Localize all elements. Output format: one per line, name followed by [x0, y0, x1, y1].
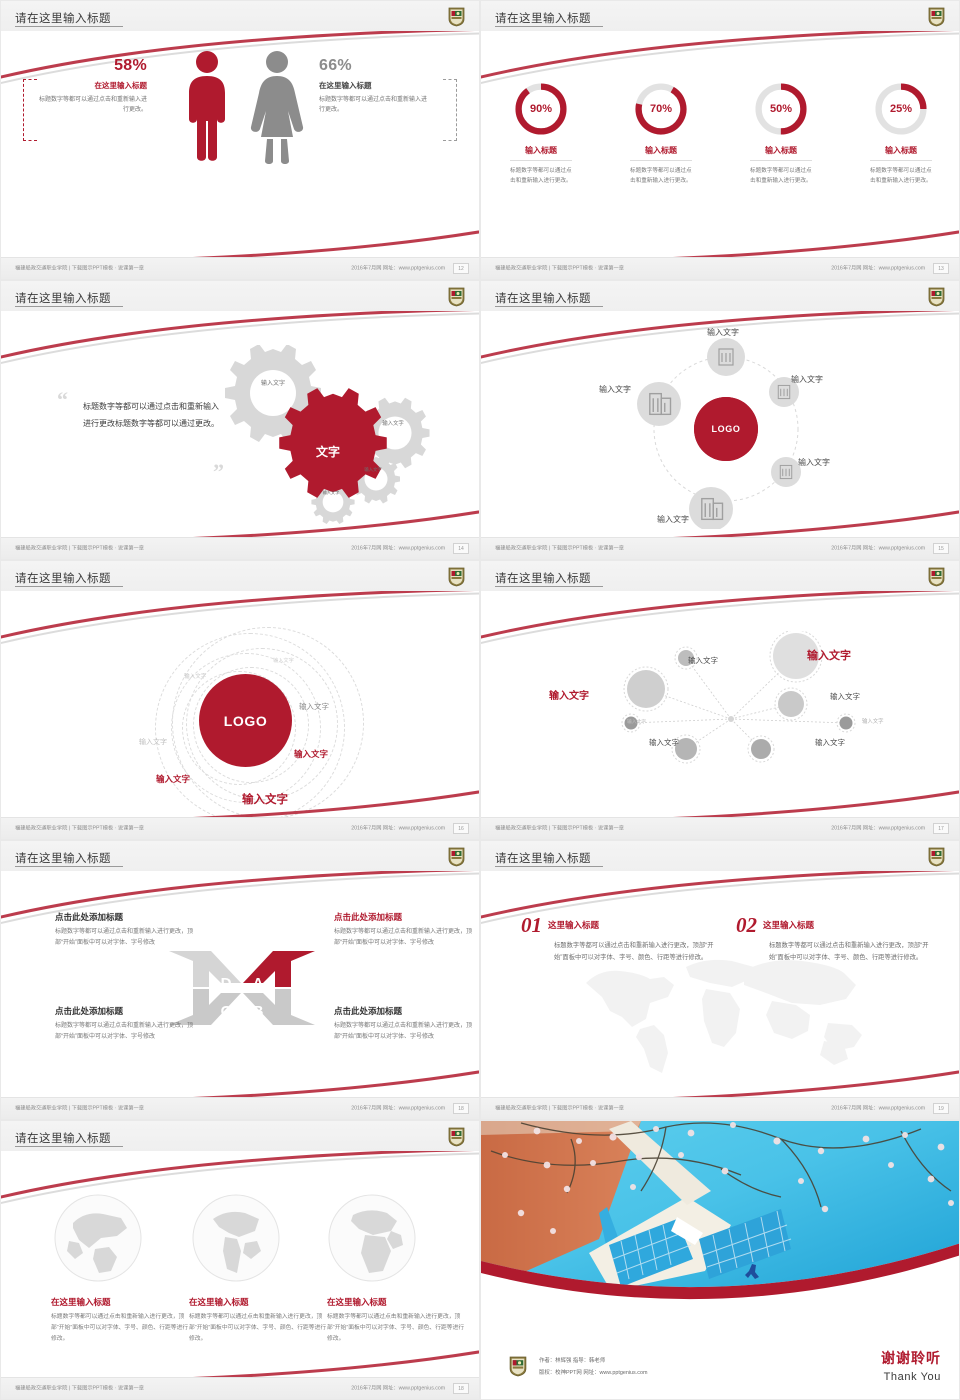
donut-value: 70% [633, 81, 689, 137]
school-crest-emblem [928, 7, 945, 27]
x-head: 点击此处添加标题 [55, 1005, 205, 1017]
right-dashed-bracket [443, 79, 457, 141]
globe-text-1: 在这里输入标题 标题数字等都可以通过点击和重新输入进行更改，顶部“开始”面板中可… [51, 1296, 191, 1345]
slide-thumbnail-5[interactable]: 请在这里输入标题 LOGO 输入文字 输入文字 输入文字 输 [0, 560, 480, 840]
donut-item: 50% 输入标题 标题数字等都可以通过点击和重新输入进行更改。 [721, 81, 841, 186]
center-logo: LOGO [694, 397, 758, 461]
globe-text-2: 在这里输入标题 标题数字等都可以通过点击和重新输入进行更改，顶部“开始”面板中可… [189, 1296, 329, 1345]
school-crest-emblem [448, 7, 465, 27]
ring-label-4: 输入文字 [139, 737, 167, 747]
item-body: 标题数字等都可以通过点击和重新输入进行更改，顶部“开始”面板中可以对字体、字号、… [769, 940, 936, 964]
footer-left-text: 福建船政交通职业学院 | 下载图示PPT模板 · 说课第一章 [15, 1104, 144, 1112]
ring-label-1: 输入文字 [273, 657, 294, 664]
divider [750, 160, 812, 161]
title-underline [495, 26, 603, 27]
slide-footer-bar: 福建船政交通职业学院 | 下载图示PPT模板 · 说课第一章 2016年7月网 … [481, 537, 959, 559]
title-underline [15, 586, 123, 587]
slide-thumbnail-6[interactable]: 请在这里输入标题 [480, 560, 960, 840]
thank-you-block: 谢谢聆听 Thank You [881, 1348, 941, 1383]
item-body: 标题数字等都可以通过点击和重新输入进行更改，顶部“开始”面板中可以对字体、字号、… [554, 940, 721, 964]
slide-body: LOGO 输入文字 输入文字 输入文字 输入文字 输入文字 [481, 311, 959, 537]
slide-title: 请在这里输入标题 [15, 570, 111, 586]
globe-icon-africa-europe [327, 1193, 417, 1283]
campus-photo [481, 1121, 960, 1306]
donut-desc: 标题数字等都可以通过点击和重新输入进行更改。 [510, 166, 572, 186]
slide-thumbnail-9[interactable]: 请在这里输入标题 [0, 1120, 480, 1400]
item-title: 这里输入标题 [548, 919, 599, 931]
quote-open-mark: “ [57, 387, 68, 413]
donut-label: 输入标题 [721, 145, 841, 156]
svg-text:D: D [221, 975, 232, 992]
slide-title: 请在这里输入标题 [495, 10, 591, 26]
svg-text:B: B [253, 1003, 264, 1020]
footer-right-text: 2016年7月网 网址：www.pptgenius.com [831, 1104, 925, 1112]
footer-left-text: 福建船政交通职业学院 | 下载图示PPT模板 · 说课第一章 [15, 1384, 144, 1392]
ring-label-2: 输入文字 [184, 672, 206, 680]
school-crest-emblem [928, 847, 945, 867]
page-number: 18 [453, 1383, 469, 1394]
red-arc-bottom-decor [119, 211, 479, 257]
male-subtitle: 在这里输入标题 [37, 80, 147, 91]
numbered-item-2: 02 这里输入标题 标题数字等都可以通过点击和重新输入进行更改，顶部“开始”面板… [736, 913, 936, 964]
globe-icon-asia [53, 1193, 143, 1283]
donut-item: 25% 输入标题 标题数字等都可以通过点击和重新输入进行更改。 [841, 81, 959, 186]
footer-right-text: 2016年7月网 网址：www.pptgenius.com [351, 824, 445, 832]
ring-label-7: 输入文字 [242, 791, 288, 807]
net-label-8: 输入文字 [815, 737, 845, 748]
slide-title: 请在这里输入标题 [15, 290, 111, 306]
hub-label-right-top: 输入文字 [791, 374, 823, 385]
slide-thumbnail-8[interactable]: 请在这里输入标题 [480, 840, 960, 1120]
slide-body: 90% 输入标题 标题数字等都可以通过点击和重新输入进行更改。 70% 输入标题 [481, 31, 959, 257]
footer-left-text: 福建船政交通职业学院 | 下载图示PPT模板 · 说课第一章 [495, 264, 624, 272]
footer-right-text: 2016年7月网 网址：www.pptgenius.com [351, 264, 445, 272]
slide-body: “ ” 标题数字等都可以通过点击和重新输入进行更改标题数字等都可以通过更改。 [1, 311, 479, 537]
page-number: 13 [933, 263, 949, 274]
hub-label-bottom: 输入文字 [657, 514, 689, 525]
x-body: 标题数字等都可以通过点击和重新输入进行更改，顶部“开始”面板中可以对字体、字号修… [55, 927, 205, 949]
credit-copyright-line: 版权：校神PPT网 网址：www.pptgenius.com [539, 1368, 647, 1379]
donut-desc: 标题数字等都可以通过点击和重新输入进行更改。 [750, 166, 812, 186]
donut-value: 90% [513, 81, 569, 137]
donut-chart-70: 70% [633, 81, 689, 137]
net-label-7: 输入文字 [649, 737, 679, 748]
school-crest-emblem [928, 287, 945, 307]
globe-text-3: 在这里输入标题 标题数字等都可以通过点击和重新输入进行更改，顶部“开始”面板中可… [327, 1296, 467, 1345]
x-head: 点击此处添加标题 [334, 1005, 479, 1017]
footer-left-text: 福建船政交通职业学院 | 下载图示PPT模板 · 说课第一章 [495, 1104, 624, 1112]
slide-thumbnail-2[interactable]: 请在这里输入标题 [480, 0, 960, 280]
x-head: 点击此处添加标题 [334, 911, 479, 923]
x-quadrant-text-bottomleft: 点击此处添加标题 标题数字等都可以通过点击和重新输入进行更改，顶部“开始”面板中… [55, 1005, 205, 1043]
globe-body: 标题数字等都可以通过点击和重新输入进行更改，顶部“开始”面板中可以对字体、字号、… [327, 1312, 467, 1345]
title-underline [495, 586, 603, 587]
red-arc-bottom-decor [599, 211, 959, 257]
slide-thumbnail-7[interactable]: 请在这里输入标题 D A C B [0, 840, 480, 1120]
school-crest-emblem [448, 567, 465, 587]
female-desc: 标题数字等都可以通过点击和重新输入进行更改。 [319, 95, 429, 115]
page-number: 14 [453, 543, 469, 554]
school-crest-emblem [448, 847, 465, 867]
slide-thumbnail-grid: 请在这里输入标题 [0, 0, 960, 1400]
donut-label: 输入标题 [841, 145, 959, 156]
title-underline [15, 26, 123, 27]
footer-left-text: 福建船政交通职业学院 | 下载图示PPT模板 · 说课第一章 [495, 544, 624, 552]
donut-label: 输入标题 [601, 145, 721, 156]
gears-group [223, 345, 453, 530]
ring-label-6: 输入文字 [156, 773, 190, 785]
title-underline [15, 866, 123, 867]
page-number: 17 [933, 823, 949, 834]
hub-label-right-bottom: 输入文字 [798, 457, 830, 468]
footer-left-text: 福建船政交通职业学院 | 下载图示PPT模板 · 说课第一章 [15, 264, 144, 272]
slide-title: 请在这里输入标题 [15, 1130, 111, 1146]
thanks-chinese: 谢谢聆听 [881, 1348, 941, 1368]
slide-footer-bar: 福建船政交通职业学院 | 下载图示PPT模板 · 说课第一章 2016年7月网 … [1, 1097, 479, 1119]
female-percent: 66% [319, 57, 429, 75]
slide-title: 请在这里输入标题 [495, 570, 591, 586]
female-subtitle: 在这里输入标题 [319, 80, 429, 91]
net-label-5: 输入文字 [862, 717, 884, 725]
footer-right-text: 2016年7月网 网址：www.pptgenius.com [351, 544, 445, 552]
donut-desc: 标题数字等都可以通过点击和重新输入进行更改。 [630, 166, 692, 186]
red-arc-bottom-decor [119, 1051, 479, 1097]
x-body: 标题数字等都可以通过点击和重新输入进行更改，顶部“开始”面板中可以对字体、字号修… [334, 927, 479, 949]
center-logo: LOGO [199, 674, 292, 767]
donut-chart-90: 90% [513, 81, 569, 137]
title-underline [495, 866, 603, 867]
title-underline [495, 306, 603, 307]
main-gear-label: 文字 [287, 443, 369, 460]
school-crest-emblem [448, 287, 465, 307]
page-number: 19 [933, 1103, 949, 1114]
donut-value: 50% [753, 81, 809, 137]
divider [870, 160, 932, 161]
x-quadrant-text-bottomright: 点击此处添加标题 标题数字等都可以通过点击和重新输入进行更改，顶部“开始”面板中… [334, 1005, 479, 1043]
school-crest-emblem [928, 567, 945, 587]
globe-body: 标题数字等都可以通过点击和重新输入进行更改，顶部“开始”面板中可以对字体、字号、… [51, 1312, 191, 1345]
slide-footer-bar: 福建船政交通职业学院 | 下载图示PPT模板 · 说课第一章 2016年7月网 … [481, 1097, 959, 1119]
x-body: 标题数字等都可以通过点击和重新输入进行更改，顶部“开始”面板中可以对字体、字号修… [55, 1021, 205, 1043]
slide-body: 01 这里输入标题 标题数字等都可以通过点击和重新输入进行更改，顶部“开始”面板… [481, 871, 959, 1097]
slide-footer-bar: 福建船政交通职业学院 | 下载图示PPT模板 · 说课第一章 2016年7月网 … [1, 537, 479, 559]
net-label-2: 输入文字 [549, 687, 589, 702]
item-number: 02 [736, 913, 757, 938]
title-underline [15, 1146, 123, 1147]
net-label-3: 输入文字 [688, 655, 718, 666]
donut-row: 90% 输入标题 标题数字等都可以通过点击和重新输入进行更改。 70% 输入标题 [481, 81, 959, 186]
slide-footer-bar: 福建船政交通职业学院 | 下载图示PPT模板 · 说课第一章 2016年7月网 … [1, 817, 479, 839]
donut-item: 90% 输入标题 标题数字等都可以通过点击和重新输入进行更改。 [481, 81, 601, 186]
footer-right-text: 2016年7月网 网址：www.pptgenius.com [831, 264, 925, 272]
slide-body: 在这里输入标题 标题数字等都可以通过点击和重新输入进行更改，顶部“开始”面板中可… [1, 1151, 479, 1377]
credit-author-line: 作者：林辉强 指导：韩老师 [539, 1356, 647, 1367]
footer-right-text: 2016年7月网 网址：www.pptgenius.com [351, 1104, 445, 1112]
network-diagram [611, 631, 901, 786]
net-label-6: 输入文字 [627, 718, 646, 725]
slide-footer-bar: 福建船政交通职业学院 | 下载图示PPT模板 · 说课第一章 2016年7月网 … [481, 817, 959, 839]
divider [510, 160, 572, 161]
svg-text:C: C [221, 1003, 232, 1020]
x-quadrant-text-topright: 点击此处添加标题 标题数字等都可以通过点击和重新输入进行更改，顶部“开始”面板中… [334, 911, 479, 949]
footer-left-text: 福建船政交通职业学院 | 下载图示PPT模板 · 说课第一章 [15, 544, 144, 552]
slide-title: 请在这里输入标题 [15, 10, 111, 26]
hub-label-left: 输入文字 [599, 384, 631, 395]
globe-head: 在这里输入标题 [327, 1296, 467, 1308]
slide-footer-bar: 福建船政交通职业学院 | 下载图示PPT模板 · 说课第一章 2016年7月网 … [1, 257, 479, 279]
title-underline [15, 306, 123, 307]
left-dashed-bracket [23, 79, 37, 141]
thanks-english: Thank You [881, 1371, 941, 1383]
male-percent: 58% [37, 57, 147, 75]
ring-label-3: 输入文字 [299, 701, 329, 712]
hub-label-top: 输入文字 [707, 327, 739, 338]
slide-thumbnail-4[interactable]: 请在这里输入标题 [480, 280, 960, 560]
slide-body: 58% 在这里输入标题 标题数字等都可以通过点击和重新输入进行更改。 66% 在… [1, 31, 479, 257]
male-stat-block: 58% 在这里输入标题 标题数字等都可以通过点击和重新输入进行更改。 [37, 57, 147, 115]
slide-thumbnail-1[interactable]: 请在这里输入标题 [0, 0, 480, 280]
globe-icon-americas [191, 1193, 281, 1283]
female-stat-block: 66% 在这里输入标题 标题数字等都可以通过点击和重新输入进行更改。 [319, 57, 429, 115]
globe-body: 标题数字等都可以通过点击和重新输入进行更改，顶部“开始”面板中可以对字体、字号、… [189, 1312, 329, 1345]
donut-item: 70% 输入标题 标题数字等都可以通过点击和重新输入进行更改。 [601, 81, 721, 186]
slide-body: LOGO 输入文字 输入文字 输入文字 输入文字 输入文字 输入文字 输入文字 [1, 591, 479, 817]
globe-head: 在这里输入标题 [51, 1296, 191, 1308]
donut-label: 输入标题 [481, 145, 601, 156]
donut-value: 25% [873, 81, 929, 137]
gear-body-text: 标题数字等都可以通过点击和重新输入进行更改标题数字等都可以通过更改。 [83, 399, 223, 433]
x-quadrant-text-topleft: 点击此处添加标题 标题数字等都可以通过点击和重新输入进行更改，顶部“开始”面板中… [55, 911, 205, 949]
net-label-1: 输入文字 [807, 647, 851, 663]
footer-right-text: 2016年7月网 网址：www.pptgenius.com [831, 824, 925, 832]
footer-right-text: 2016年7月网 网址：www.pptgenius.com [351, 1384, 445, 1392]
footer-left-text: 福建船政交通职业学院 | 下载图示PPT模板 · 说课第一章 [495, 824, 624, 832]
net-label-4: 输入文字 [830, 691, 860, 702]
donut-chart-25: 25% [873, 81, 929, 137]
credit-block: 作者：林辉强 指导：韩老师 版权：校神PPT网 网址：www.pptgenius… [539, 1356, 647, 1379]
footer-right-text: 2016年7月网 网址：www.pptgenius.com [831, 544, 925, 552]
footer-left-text: 福建船政交通职业学院 | 下载图示PPT模板 · 说课第一章 [15, 824, 144, 832]
page-number: 16 [453, 823, 469, 834]
slide-body: 输入文字 输入文字 输入文字 输入文字 输入文字 输入文字 输入文字 输入文字 [481, 591, 959, 817]
divider [630, 160, 692, 161]
slide-footer-bar: 福建船政交通职业学院 | 下载图示PPT模板 · 说课第一章 2016年7月网 … [481, 257, 959, 279]
male-figure-icon [181, 49, 233, 164]
school-crest-emblem [448, 1127, 465, 1147]
page-number: 18 [453, 1103, 469, 1114]
donut-desc: 标题数字等都可以通过点击和重新输入进行更改。 [870, 166, 932, 186]
school-crest-emblem [509, 1356, 527, 1377]
male-desc: 标题数字等都可以通过点击和重新输入进行更改。 [37, 95, 147, 115]
slide-title: 请在这里输入标题 [495, 850, 591, 866]
slide-footer-bar: 福建船政交通职业学院 | 下载图示PPT模板 · 说课第一章 2016年7月网 … [1, 1377, 479, 1399]
slide-title: 请在这里输入标题 [495, 290, 591, 306]
svg-text:A: A [253, 975, 264, 992]
item-number: 01 [521, 913, 542, 938]
donut-chart-50: 50% [753, 81, 809, 137]
slide-title: 请在这里输入标题 [15, 850, 111, 866]
globe-head: 在这里输入标题 [189, 1296, 329, 1308]
slide-thumbnail-3[interactable]: 请在这里输入标题 “ ” 标题数字等都可以通过点击和重新输入进行更改标题数字等都… [0, 280, 480, 560]
numbered-item-1: 01 这里输入标题 标题数字等都可以通过点击和重新输入进行更改，顶部“开始”面板… [521, 913, 721, 964]
slide-thumbnail-10[interactable]: 谢谢聆听 Thank You 作者：林辉强 指导：韩老师 版权：校神PPT网 网… [480, 1120, 960, 1400]
slide-body: D A C B 点击此处添加标题 标题数字等都可以通过点击和重新输入进行更改，顶… [1, 871, 479, 1097]
female-figure-icon [249, 49, 305, 164]
x-body: 标题数字等都可以通过点击和重新输入进行更改，顶部“开始”面板中可以对字体、字号修… [334, 1021, 479, 1043]
ring-label-5: 输入文字 [294, 748, 328, 760]
item-title: 这里输入标题 [763, 919, 814, 931]
page-number: 15 [933, 543, 949, 554]
page-number: 12 [453, 263, 469, 274]
x-head: 点击此处添加标题 [55, 911, 205, 923]
